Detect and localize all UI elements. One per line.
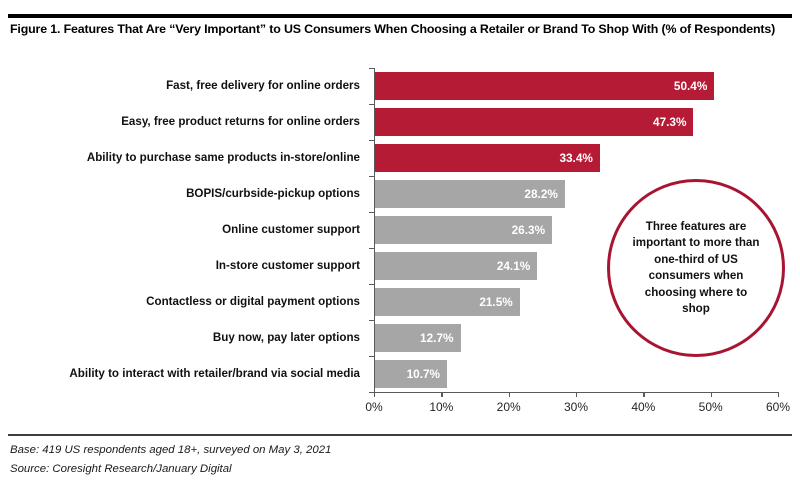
- x-axis-tick: [711, 392, 712, 397]
- footer-base-note: Base: 419 US respondents aged 18+, surve…: [10, 444, 331, 456]
- bar-value-label: 47.3%: [375, 108, 693, 136]
- y-axis-tick: [369, 212, 374, 213]
- callout-annotation-text: Three features are important to more tha…: [630, 219, 762, 318]
- x-axis-tick: [441, 392, 442, 397]
- bar-value-label: 28.2%: [375, 180, 565, 208]
- category-label: In-store customer support: [0, 260, 360, 272]
- y-axis-tick: [369, 140, 374, 141]
- bar-value-label: 12.7%: [375, 324, 461, 352]
- x-axis-tick: [374, 392, 375, 397]
- y-axis-tick: [369, 176, 374, 177]
- bar-value-label: 24.1%: [375, 252, 537, 280]
- footer-source-note: Source: Coresight Research/January Digit…: [10, 463, 232, 475]
- x-axis-tick-label: 20%: [479, 400, 539, 414]
- category-label: Online customer support: [0, 224, 360, 236]
- category-label: Contactless or digital payment options: [0, 296, 360, 308]
- x-axis-tick-label: 30%: [546, 400, 606, 414]
- y-axis-tick: [369, 356, 374, 357]
- bar-value-label: 21.5%: [375, 288, 520, 316]
- y-axis-tick: [369, 248, 374, 249]
- footer-divider-rule: [8, 434, 792, 436]
- callout-annotation-circle: Three features are important to more tha…: [607, 179, 785, 357]
- category-label: Fast, free delivery for online orders: [0, 80, 360, 92]
- x-axis-tick: [778, 392, 779, 397]
- x-axis-tick-label: 50%: [681, 400, 741, 414]
- category-label: BOPIS/curbside-pickup options: [0, 188, 360, 200]
- x-axis-tick: [576, 392, 577, 397]
- category-label: Easy, free product returns for online or…: [0, 116, 360, 128]
- x-axis-tick-label: 10%: [411, 400, 471, 414]
- bar-value-label: 50.4%: [375, 72, 714, 100]
- x-axis-tick-label: 60%: [748, 400, 800, 414]
- figure-container: Figure 1. Features That Are “Very Import…: [0, 0, 800, 487]
- category-label: Ability to interact with retailer/brand …: [0, 368, 360, 380]
- bar-value-label: 33.4%: [375, 144, 600, 172]
- y-axis-tick: [369, 284, 374, 285]
- x-axis-tick-label: 40%: [613, 400, 673, 414]
- page-title: Figure 1. Features That Are “Very Import…: [10, 22, 796, 36]
- y-axis-tick: [369, 68, 374, 69]
- category-label: Ability to purchase same products in-sto…: [0, 152, 360, 164]
- category-axis-labels: Fast, free delivery for online ordersEas…: [0, 62, 368, 386]
- y-axis-tick: [369, 104, 374, 105]
- x-axis-tick: [509, 392, 510, 397]
- bar-value-label: 26.3%: [375, 216, 552, 244]
- title-divider-rule: [8, 14, 792, 18]
- y-axis-tick: [369, 320, 374, 321]
- x-axis-tick: [643, 392, 644, 397]
- x-axis-tick-label: 0%: [344, 400, 404, 414]
- bar-value-label: 10.7%: [375, 360, 447, 388]
- category-label: Buy now, pay later options: [0, 332, 360, 344]
